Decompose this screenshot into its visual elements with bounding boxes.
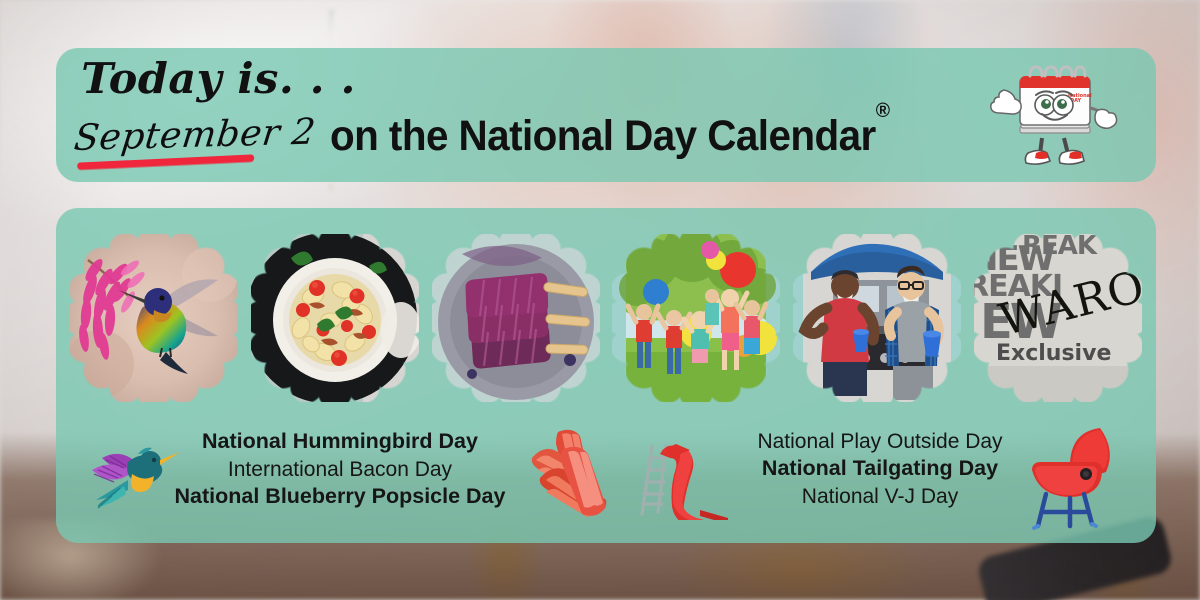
svg-text:Exclusive: Exclusive <box>996 341 1111 366</box>
blueberry-popsicle-photo <box>432 234 600 402</box>
slide-icon <box>628 432 738 520</box>
current-date: September 2 <box>70 112 324 159</box>
play-outside-photo <box>612 234 780 402</box>
grill-icon <box>1026 420 1118 530</box>
national-day-calendar-graphic: Today is. . . September 2 on the Nationa… <box>0 0 1200 600</box>
day-list-right: National Play Outside Day National Tailg… <box>720 428 1040 511</box>
day-item: National V-J Day <box>720 483 1040 510</box>
day-item: National Blueberry Popsicle Day <box>150 483 530 511</box>
day-item: National Tailgating Day <box>720 455 1040 483</box>
today-is-label: Today is. . . <box>81 54 356 103</box>
page-title: on the National Day Calendar® <box>330 112 889 161</box>
bacon-pasta-photo <box>251 234 419 402</box>
tailgating-photo <box>793 234 961 402</box>
thumbnail-row: REAK NEW REAKI EW Exclusive WARO <box>70 232 1142 404</box>
registered-trademark-icon: ® <box>876 99 890 122</box>
date-headline-row: September 2 on the National Day Calendar… <box>70 112 925 161</box>
vj-day-photo: REAK NEW REAKI EW Exclusive WARO <box>974 234 1142 402</box>
day-list-left: National Hummingbird Day International B… <box>150 428 530 511</box>
day-item: International Bacon Day <box>150 456 530 483</box>
hummingbird-icon <box>84 432 180 518</box>
day-item: National Play Outside Day <box>720 428 1040 455</box>
page-title-text: on the National Day Calendar <box>330 112 876 160</box>
calendar-mascot-icon: National DAY <box>990 50 1120 178</box>
bacon-icon <box>522 422 618 528</box>
hummingbird-photo <box>70 234 238 402</box>
current-date-text: September 2 <box>72 112 318 159</box>
day-item: National Hummingbird Day <box>150 428 530 456</box>
